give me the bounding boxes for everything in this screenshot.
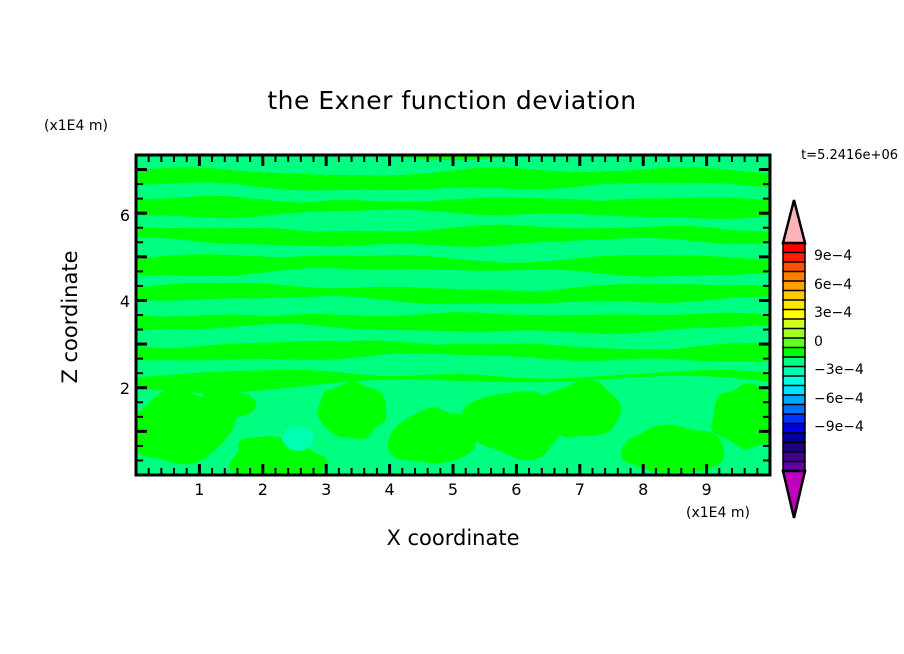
colorbar-band (783, 253, 805, 263)
colorbar-tick-label: 0 (814, 334, 823, 350)
colorbar-band (783, 433, 805, 443)
colorbar-over-arrow (783, 200, 805, 243)
colorbar-band (783, 395, 805, 405)
colorbar-tick-label: 3e−4 (814, 305, 852, 321)
colorbar-tick-label: −3e−4 (814, 362, 864, 378)
colorbar-band (783, 281, 805, 291)
y-tick-label: 2 (100, 379, 130, 398)
colorbar-band (783, 414, 805, 424)
colorbar-band (783, 243, 805, 253)
contour-field (126, 150, 778, 483)
colorbar-tick-label: −9e−4 (814, 419, 864, 435)
x-tick-label: 7 (565, 480, 595, 499)
colorbar-band (783, 338, 805, 348)
x-tick-label: 5 (438, 480, 468, 499)
colorbar-band (783, 443, 805, 453)
colorbar-band (783, 376, 805, 386)
colorbar-band (783, 329, 805, 339)
colorbar-band (783, 424, 805, 434)
x-tick-label: 8 (628, 480, 658, 499)
page-title: the Exner function deviation (0, 86, 904, 115)
time-annotation: t=5.2416e+06 (801, 148, 898, 163)
y-axis-unit-label: (x1E4 m) (44, 118, 108, 134)
x-tick-label: 9 (692, 480, 722, 499)
colorbar-tick-label: −6e−4 (814, 391, 864, 407)
x-axis-unit-label: (x1E4 m) (686, 505, 750, 521)
colorbar-under-arrow (783, 471, 805, 518)
colorbar-band (783, 262, 805, 272)
colorbar-band (783, 300, 805, 310)
colorbar (783, 200, 805, 518)
colorbar-band (783, 291, 805, 301)
y-tick-label: 4 (100, 292, 130, 311)
colorbar-band (783, 452, 805, 462)
y-tick-label: 6 (100, 206, 130, 225)
colorbar-tick-label: 6e−4 (814, 277, 852, 293)
x-tick-label: 3 (311, 480, 341, 499)
colorbar-band (783, 386, 805, 396)
colorbar-band (783, 357, 805, 367)
x-tick-label: 2 (248, 480, 278, 499)
colorbar-band (783, 405, 805, 415)
colorbar-band (783, 310, 805, 320)
x-axis-title: X coordinate (136, 526, 770, 550)
colorbar-band (783, 319, 805, 329)
x-tick-label: 4 (375, 480, 405, 499)
y-axis-title: Z coordinate (58, 207, 82, 427)
x-tick-label: 1 (184, 480, 214, 499)
colorbar-band (783, 272, 805, 282)
x-tick-label: 6 (501, 480, 531, 499)
colorbar-tick-label: 9e−4 (814, 248, 852, 264)
colorbar-band (783, 367, 805, 377)
colorbar-band (783, 348, 805, 358)
